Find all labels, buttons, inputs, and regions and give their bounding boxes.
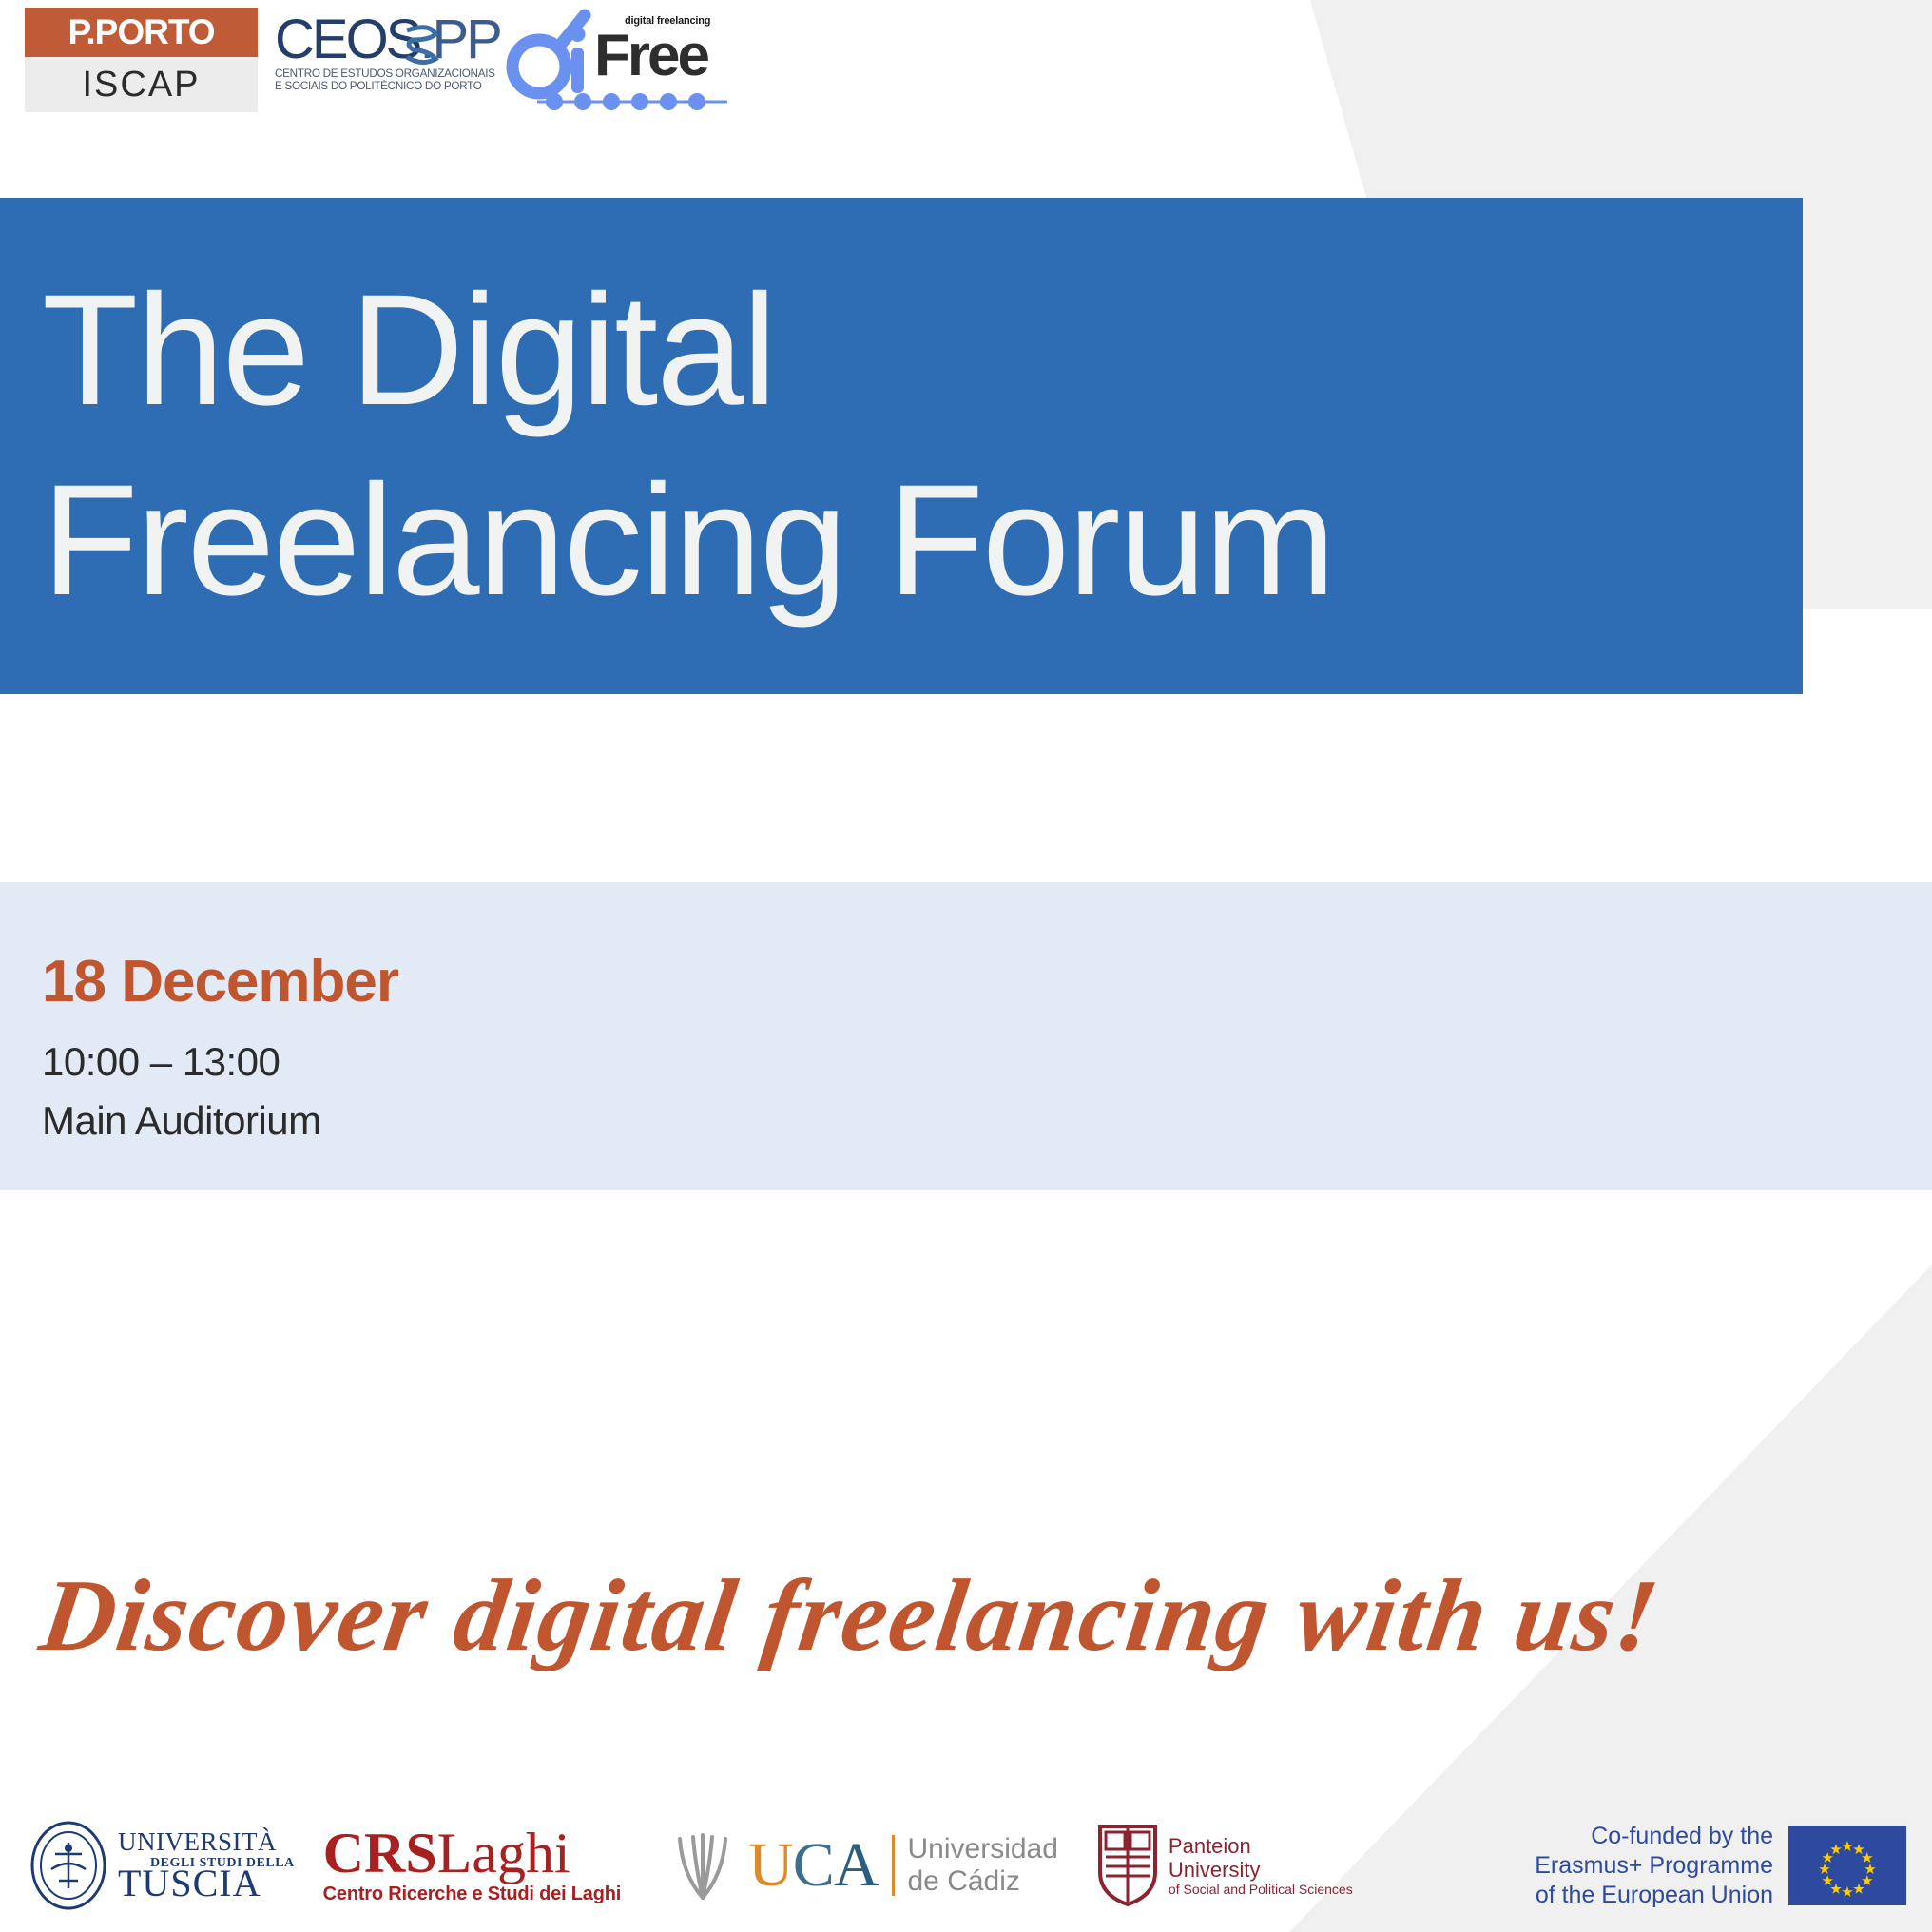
tuscia-line1: UNIVERSITÀ xyxy=(118,1829,295,1855)
panteion-crest-icon xyxy=(1096,1823,1159,1908)
uca-name: Universidad de Cádiz xyxy=(908,1833,1058,1898)
uca-letter-a: A xyxy=(834,1830,879,1900)
panteion-line3: of Social and Political Sciences xyxy=(1169,1882,1353,1897)
uca-letter-c: C xyxy=(793,1830,834,1900)
erasmus-line1: Co-funded by the xyxy=(1535,1822,1773,1851)
crslaghi-logo: CRSLaghi Centro Ricerche e Studi dei Lag… xyxy=(323,1826,621,1905)
erasmus-funding-text: Co-funded by the Erasmus+ Programme of t… xyxy=(1535,1822,1773,1910)
tuscia-wordmark: UNIVERSITÀ DEGLI STUDI DELLA TUSCIA xyxy=(118,1829,295,1903)
event-date: 18 December xyxy=(42,949,1932,1015)
crslaghi-word: Laghi xyxy=(437,1822,570,1884)
erasmus-eu-funding-logo: Co-funded by the Erasmus+ Programme of t… xyxy=(1535,1822,1906,1910)
tuscia-crest-icon xyxy=(29,1820,108,1911)
header-logo-bar: P.PORTO ISCAP CEOS.PP CENTRO DE ESTUDOS … xyxy=(25,0,724,124)
event-time: 10:00 – 13:00 xyxy=(42,1033,1932,1092)
crslaghi-wordmark: CRSLaghi xyxy=(323,1826,621,1880)
uca-wheat-icon xyxy=(663,1827,743,1903)
ceos-subtitle-line2: E SOCIAIS DO POLITÉCNICO DO PORTO xyxy=(275,81,480,93)
page-title-line2: Freelancing Forum xyxy=(42,446,1803,636)
footer-partner-logos: UNIVERSITÀ DEGLI STUDI DELLA TUSCIA CRSL… xyxy=(29,1814,1906,1917)
pporto-banner: P.PORTO xyxy=(25,8,258,57)
difree-magnifier-icon xyxy=(503,8,598,103)
uca-divider xyxy=(892,1835,895,1896)
iscap-banner: ISCAP xyxy=(25,57,258,112)
panteion-wordmark: Panteion University of Social and Politi… xyxy=(1169,1834,1353,1898)
title-banner: The Digital Freelancing Forum xyxy=(0,198,1803,694)
uca-name-line2: de Cádiz xyxy=(908,1865,1058,1898)
panteion-university-logo: Panteion University of Social and Politi… xyxy=(1096,1823,1353,1908)
tuscia-line3: TUSCIA xyxy=(118,1864,295,1903)
erasmus-line2: Erasmus+ Programme xyxy=(1535,1851,1773,1881)
ceos-pp-logo: CEOS.PP CENTRO DE ESTUDOS ORGANIZACIONAI… xyxy=(275,11,476,93)
crslaghi-subtitle: Centro Ricerche e Studi dei Laghi xyxy=(323,1884,621,1905)
eu-flag-icon xyxy=(1788,1826,1906,1905)
iscap-label: ISCAP xyxy=(82,65,200,106)
difree-logo: digital freelancing Free xyxy=(503,4,724,116)
uca-name-line1: Universidad xyxy=(908,1833,1058,1865)
event-tagline: Discover digital freelancing with us! xyxy=(34,1559,1667,1673)
uca-letters: UCA xyxy=(748,1834,878,1897)
event-info-band: 18 December 10:00 – 13:00 Main Auditoriu… xyxy=(0,882,1932,1190)
event-location: Main Auditorium xyxy=(42,1092,1932,1150)
uca-logo: UCA Universidad de Cádiz xyxy=(663,1827,1058,1903)
difree-wordmark: Free xyxy=(594,27,707,86)
pporto-iscap-logo: P.PORTO ISCAP xyxy=(25,8,258,112)
pporto-label: P.PORTO xyxy=(68,12,214,52)
erasmus-line3: of the European Union xyxy=(1535,1881,1773,1910)
ceos-swoosh-icon xyxy=(401,21,439,67)
universita-tuscia-logo: UNIVERSITÀ DEGLI STUDI DELLA TUSCIA xyxy=(29,1820,295,1911)
panteion-line1: Panteion xyxy=(1169,1834,1353,1858)
panteion-line2: University xyxy=(1169,1858,1353,1882)
uca-letter-u: U xyxy=(748,1830,793,1900)
ceos-subtitle-line1: CENTRO DE ESTUDOS ORGANIZACIONAIS xyxy=(275,68,480,81)
ceos-word-main: CEOS xyxy=(275,9,419,70)
difree-dotted-line-icon xyxy=(537,91,727,112)
ceos-wordmark: CEOS.PP xyxy=(275,11,476,68)
poster-root: P.PORTO ISCAP CEOS.PP CENTRO DE ESTUDOS … xyxy=(0,0,1932,1932)
crslaghi-acronym: CRS xyxy=(323,1822,437,1884)
page-title-line1: The Digital xyxy=(42,256,1803,446)
